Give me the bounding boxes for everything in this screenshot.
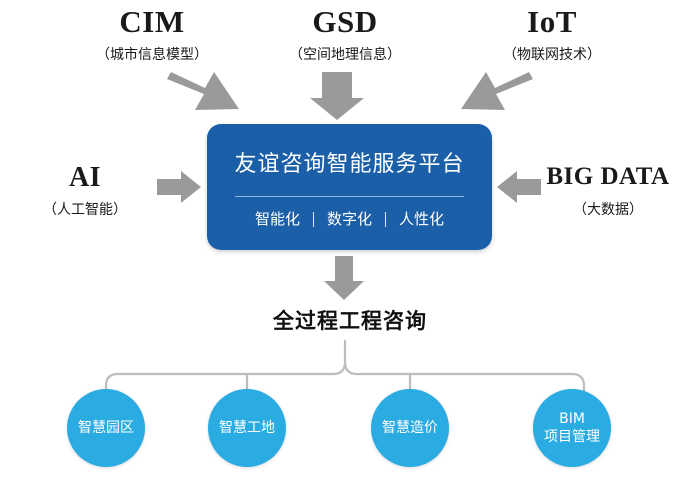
- core-platform-box: 友谊咨询智能服务平台 智能化 数字化 人性化: [207, 124, 492, 250]
- core-tag-3: 人性化: [399, 208, 444, 229]
- source-title-ai: AI: [20, 162, 150, 194]
- core-tag-separator-2: [385, 212, 386, 227]
- source-subtitle-cim: （城市信息模型）: [62, 44, 242, 64]
- source-title-gsd: GSD: [255, 4, 435, 40]
- diagram-canvas: CIM （城市信息模型） GSD （空间地理信息） IoT （物联网技术） AI…: [0, 0, 700, 483]
- arrow-ai-to-core: [157, 171, 201, 203]
- outcome-circle-3: 智慧造价: [371, 389, 449, 467]
- source-title-cim: CIM: [62, 4, 242, 40]
- core-tag-list: 智能化 数字化 人性化: [207, 208, 492, 229]
- core-tag-2: 数字化: [327, 208, 372, 229]
- source-subtitle-iot: （物联网技术）: [462, 44, 642, 64]
- core-tag-separator-1: [313, 212, 314, 227]
- source-subtitle-ai: （人工智能）: [20, 199, 150, 219]
- core-tag-1: 智能化: [255, 208, 300, 229]
- source-subtitle-big-data: （大数据）: [528, 199, 688, 219]
- outcome-label-4-line1: BIM: [544, 410, 600, 428]
- source-title-big-data: BIG DATA: [528, 163, 688, 191]
- core-platform-title: 友谊咨询智能服务平台: [207, 146, 492, 178]
- outcome-circle-2: 智慧工地: [208, 389, 286, 467]
- outcome-label-3: 智慧造价: [382, 419, 438, 437]
- outcome-label-2: 智慧工地: [219, 419, 275, 437]
- outcome-circle-4: BIM 项目管理: [533, 389, 611, 467]
- arrow-gsd-to-core: [310, 72, 364, 120]
- arrow-cim-to-core: [167, 72, 239, 110]
- source-title-iot: IoT: [462, 4, 642, 40]
- outcome-circle-1: 智慧园区: [67, 389, 145, 467]
- core-divider: [235, 196, 464, 197]
- bracket-outcomes: [106, 341, 584, 392]
- outcome-label-4-line2: 项目管理: [544, 428, 600, 446]
- outcome-label-1: 智慧园区: [78, 419, 134, 437]
- source-subtitle-gsd: （空间地理信息）: [255, 44, 435, 64]
- middle-heading: 全过程工程咨询: [190, 305, 510, 335]
- arrow-core-to-heading: [324, 256, 364, 300]
- arrow-iot-to-core: [461, 72, 533, 110]
